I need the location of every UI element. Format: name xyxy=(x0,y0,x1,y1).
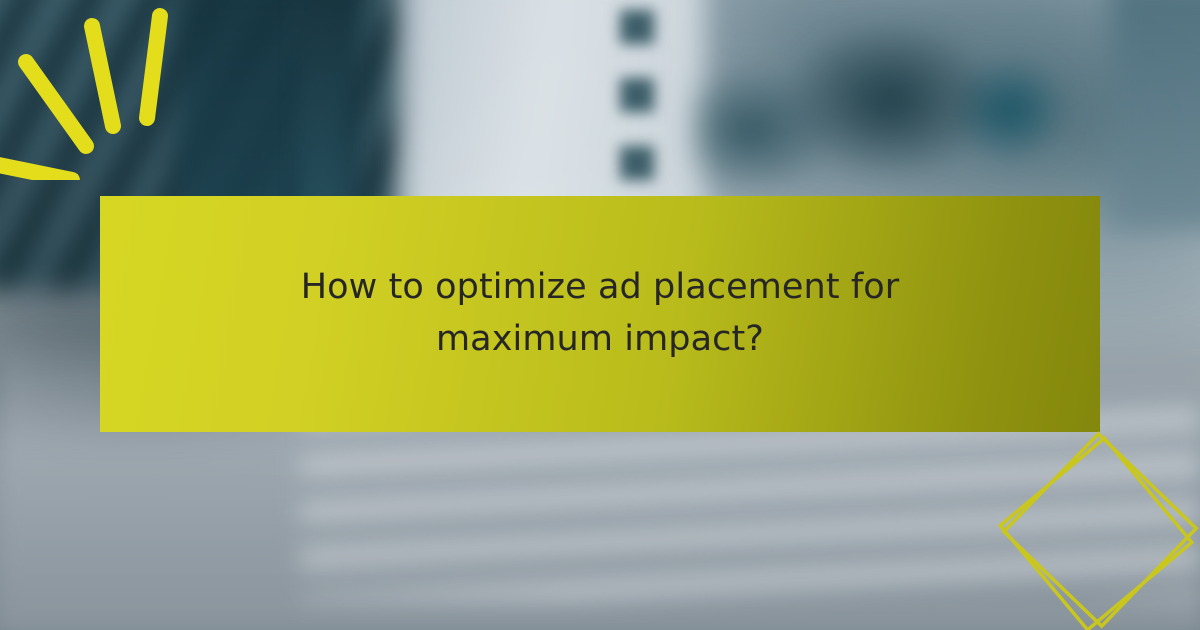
skyline-right xyxy=(690,20,1090,220)
building-far-right xyxy=(1110,0,1200,230)
title-banner: How to optimize ad placement for maximum… xyxy=(100,196,1100,432)
building-window-column xyxy=(620,10,654,200)
promo-card: How to optimize ad placement for maximum… xyxy=(0,0,1200,630)
crosswalk-stripes xyxy=(300,410,1200,600)
page-title: How to optimize ad placement for maximum… xyxy=(210,262,990,366)
